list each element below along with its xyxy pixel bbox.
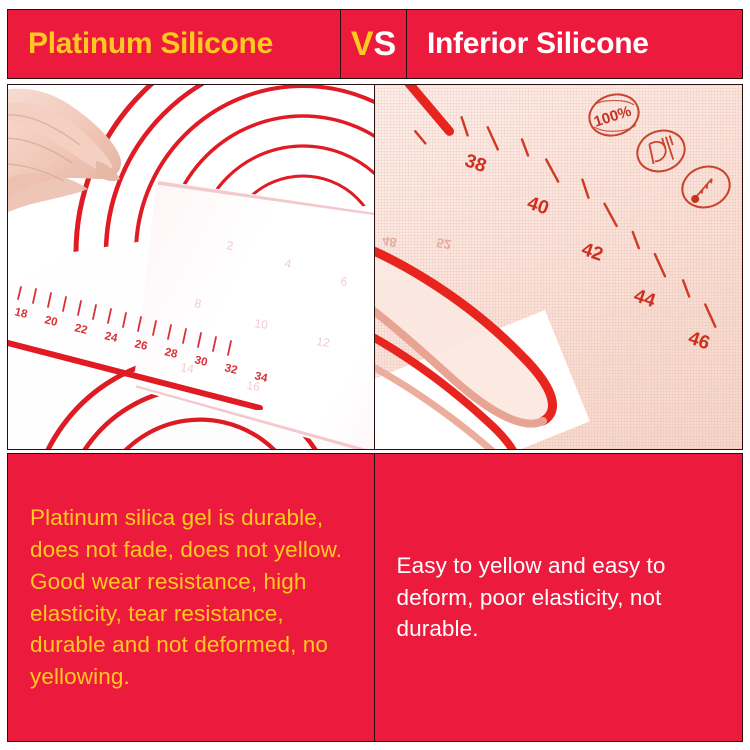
- mat-folded-loop: [374, 225, 647, 450]
- ruler-number: 28: [163, 346, 179, 361]
- description-platinum-text: Platinum silica gel is durable, does not…: [30, 502, 352, 694]
- svg-text:6: 6: [340, 274, 349, 289]
- ruler-number: 20: [43, 314, 58, 329]
- header-left-panel: Platinum Silicone: [7, 9, 341, 79]
- description-inferior-text: Easy to yellow and easy to deform, poor …: [397, 550, 721, 646]
- vs-letter-v: V: [351, 25, 374, 63]
- comparison-poster: Platinum Silicone VS Inferior Silicone: [0, 0, 750, 750]
- ruler-number: 32: [223, 362, 238, 377]
- header-right-title: Inferior Silicone: [427, 29, 649, 59]
- description-left-panel: Platinum silica gel is durable, does not…: [7, 453, 375, 742]
- header-left-title: Platinum Silicone: [28, 29, 273, 59]
- header-vs-panel: VS: [340, 9, 408, 79]
- photo-row: 2 4 6 8 10 12 14 16: [7, 84, 743, 450]
- hand-holding-mat: [7, 84, 142, 239]
- description-row: Platinum silica gel is durable, does not…: [7, 453, 743, 742]
- vs-label: VS: [351, 27, 396, 61]
- ruler-number: 46: [685, 328, 712, 355]
- ruler-number: 40: [524, 193, 551, 220]
- vs-letter-s: S: [374, 25, 397, 63]
- mat-ruler-scale-left: 18 20 22 24 26 28 30 32 34: [8, 270, 288, 410]
- description-right-panel: Easy to yellow and easy to deform, poor …: [374, 453, 744, 742]
- ruler-number: 26: [133, 338, 148, 353]
- ruler-number: 24: [103, 330, 119, 345]
- quality-stamps-group: 100%: [578, 89, 738, 219]
- photo-inferior-silicone: 38 40 42 44 46 48 52: [374, 84, 744, 450]
- ruler-number: 34: [253, 370, 269, 385]
- ruler-number: 30: [193, 354, 208, 369]
- header-right-panel: Inferior Silicone: [406, 9, 743, 79]
- svg-text:4: 4: [284, 256, 293, 271]
- ruler-number: 18: [13, 306, 29, 321]
- ruler-number: 22: [73, 322, 88, 337]
- svg-text:2: 2: [226, 238, 235, 253]
- svg-text:12: 12: [316, 334, 332, 350]
- ruler-number: 38: [461, 150, 488, 177]
- header-row: Platinum Silicone VS Inferior Silicone: [7, 9, 743, 79]
- food-safe-stamp: [632, 125, 690, 178]
- photo-platinum-silicone: 2 4 6 8 10 12 14 16: [7, 84, 375, 450]
- hundred-percent-label: 100%: [592, 103, 634, 131]
